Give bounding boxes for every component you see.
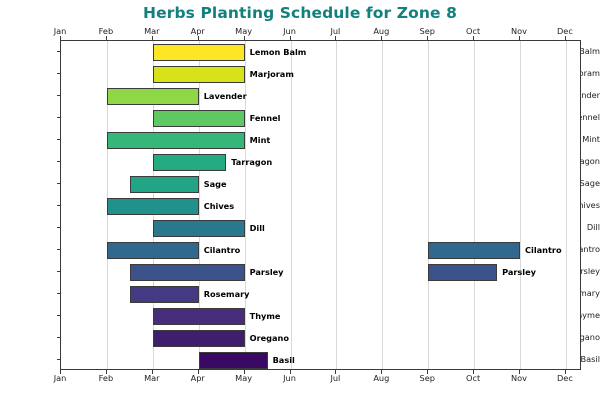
gantt-bar-label: Sage — [199, 176, 227, 193]
gantt-bar-label: Cilantro — [199, 242, 241, 259]
x-tick-label: Feb — [86, 26, 126, 36]
gantt-bar-label: Parsley — [497, 264, 536, 281]
gantt-bar-label: Tarragon — [226, 154, 272, 171]
x-tick-label: Jun — [270, 26, 310, 36]
gantt-bar[interactable] — [153, 110, 245, 127]
x-tick-mark — [565, 370, 566, 374]
gridline — [382, 41, 383, 369]
gantt-bar[interactable] — [153, 44, 245, 61]
x-tick-label: Dec — [545, 26, 585, 36]
x-tick-label: Jan — [40, 26, 80, 36]
x-tick-mark — [60, 370, 61, 374]
gantt-bar-label: Cilantro — [520, 242, 562, 259]
x-tick-label: Jul — [315, 26, 355, 36]
x-tick-label: Apr — [178, 373, 218, 383]
x-tick-label: Aug — [361, 373, 401, 383]
gantt-bar[interactable] — [199, 352, 268, 369]
x-tick-label: Oct — [453, 373, 493, 383]
x-tick-label: May — [224, 26, 264, 36]
gantt-bar-label: Rosemary — [199, 286, 250, 303]
x-tick-label: Feb — [86, 373, 126, 383]
x-tick-mark — [381, 370, 382, 374]
gridline — [291, 41, 292, 369]
gantt-bar[interactable] — [153, 220, 245, 237]
x-tick-label: Dec — [545, 373, 585, 383]
gantt-bar[interactable] — [107, 242, 199, 259]
gridline — [520, 41, 521, 369]
gridline — [474, 41, 475, 369]
x-tick-mark — [106, 370, 107, 374]
x-tick-mark — [198, 370, 199, 374]
x-tick-mark — [290, 370, 291, 374]
x-tick-label: May — [224, 373, 264, 383]
gridline — [336, 41, 337, 369]
gantt-chart: Herbs Planting Schedule for Zone 8 JanFe… — [0, 0, 600, 400]
x-tick-mark — [152, 370, 153, 374]
x-tick-label: Apr — [178, 26, 218, 36]
gantt-bar[interactable] — [107, 88, 199, 105]
x-tick-label: Aug — [361, 26, 401, 36]
x-tick-label: Nov — [499, 373, 539, 383]
x-tick-label: Mar — [132, 373, 172, 383]
x-tick-label: Mar — [132, 26, 172, 36]
gantt-bar-label: Thyme — [245, 308, 281, 325]
gantt-bar-label: Parsley — [245, 264, 284, 281]
gantt-bar-label: Lavender — [199, 88, 247, 105]
x-tick-mark — [244, 370, 245, 374]
gantt-bar[interactable] — [107, 132, 245, 149]
gantt-bar[interactable] — [130, 286, 199, 303]
gantt-bar-label: Lemon Balm — [245, 44, 307, 61]
gantt-bar[interactable] — [153, 330, 245, 347]
gantt-bar-label: Chives — [199, 198, 234, 215]
x-tick-mark — [473, 370, 474, 374]
x-tick-mark — [519, 370, 520, 374]
gantt-bar[interactable] — [153, 66, 245, 83]
gantt-bar-label: Oregano — [245, 330, 289, 347]
x-tick-label: Jan — [40, 373, 80, 383]
x-tick-label: Oct — [453, 26, 493, 36]
gantt-bar-label: Marjoram — [245, 66, 294, 83]
gantt-bar-label: Fennel — [245, 110, 281, 127]
plot-area: Lemon BalmMarjoramLavenderFennelMintTarr… — [60, 40, 581, 370]
gantt-bar[interactable] — [428, 242, 520, 259]
gantt-bar[interactable] — [130, 264, 245, 281]
gantt-bar-label: Dill — [245, 220, 265, 237]
gantt-bar[interactable] — [153, 308, 245, 325]
x-tick-mark — [335, 370, 336, 374]
gantt-bar[interactable] — [153, 154, 226, 171]
chart-title: Herbs Planting Schedule for Zone 8 — [0, 4, 600, 22]
gantt-bar[interactable] — [130, 176, 199, 193]
gridline — [566, 41, 567, 369]
x-tick-label: Sep — [407, 373, 447, 383]
x-tick-label: Sep — [407, 26, 447, 36]
gantt-bar-label: Mint — [245, 132, 271, 149]
gantt-bar[interactable] — [107, 198, 199, 215]
x-tick-mark — [427, 370, 428, 374]
x-tick-label: Nov — [499, 26, 539, 36]
gridline — [428, 41, 429, 369]
gantt-bar[interactable] — [428, 264, 497, 281]
x-tick-label: Jun — [270, 373, 310, 383]
gantt-bar-label: Basil — [268, 352, 295, 369]
x-tick-label: Jul — [315, 373, 355, 383]
